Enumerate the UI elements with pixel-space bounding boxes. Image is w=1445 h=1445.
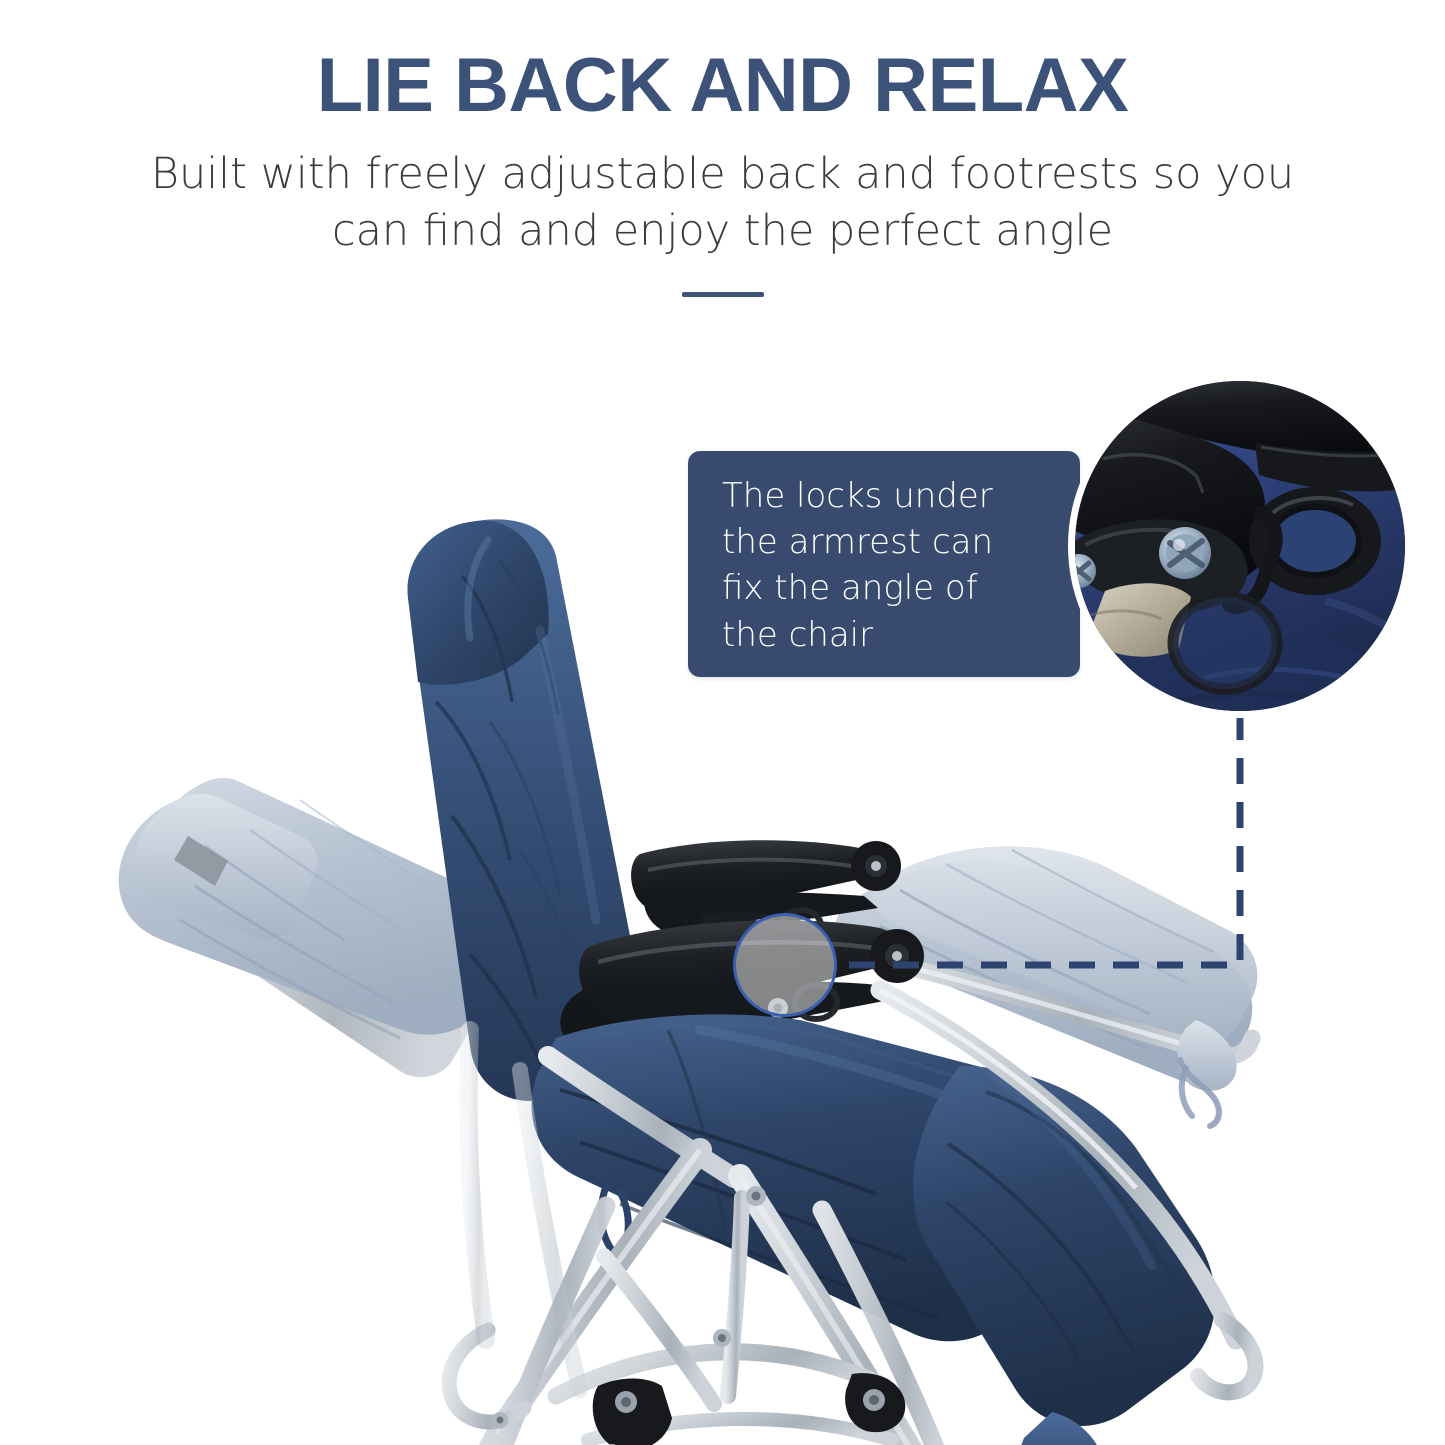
infographic-canvas: LIE BACK AND RELAX Built with freely adj… [0, 0, 1445, 1445]
closeup-photo [1075, 381, 1412, 718]
page-title: LIE BACK AND RELAX [0, 0, 1445, 124]
divider-rule [682, 292, 764, 297]
callout-text: The locks under the armrest can fix the … [722, 473, 1034, 658]
callout-box: The locks under the armrest can fix the … [688, 451, 1080, 677]
page-subtitle: Built with freely adjustable back and fo… [143, 146, 1303, 260]
armrest-lock-highlight [733, 913, 837, 1017]
armrest-lock-closeup [1068, 374, 1412, 718]
header: LIE BACK AND RELAX Built with freely adj… [0, 0, 1445, 297]
